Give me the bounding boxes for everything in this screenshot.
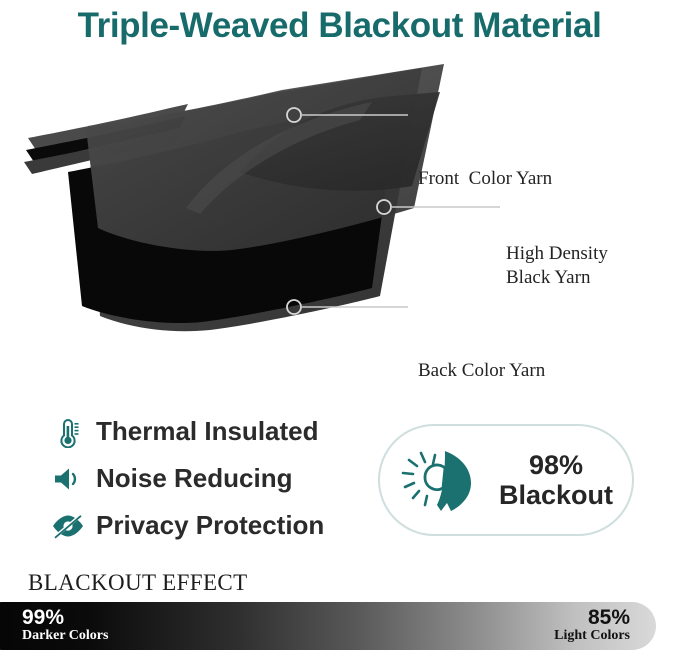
blackout-percent: 98%	[488, 450, 624, 480]
feature-label: Privacy Protection	[96, 510, 324, 541]
darker-colors-percent: 99%	[22, 607, 108, 629]
blackout-bar-right-cell: 85% Light Colors	[554, 607, 630, 644]
blackout-badge-text: 98% Blackout	[488, 450, 632, 510]
blackout-label: Blackout	[488, 480, 624, 510]
speaker-sound-icon	[48, 460, 88, 498]
thermometer-icon	[48, 413, 88, 451]
eye-slash-icon	[48, 507, 88, 545]
blackout-bar-left-cell: 99% Darker Colors	[22, 607, 108, 644]
callout-label-front: Front Color Yarn	[418, 167, 552, 191]
fabric-layers-diagram: Front Color Yarn High Density Black Yarn…	[0, 62, 679, 362]
page-title: Triple-Weaved Blackout Material	[0, 0, 679, 52]
blackout-badge: 98% Blackout	[378, 424, 634, 536]
feature-thermal-insulated: Thermal Insulated	[48, 408, 368, 455]
feature-noise-reducing: Noise Reducing	[48, 455, 368, 502]
feature-list: Thermal Insulated Noise Reducing Privacy…	[48, 408, 368, 549]
blackout-effect-title: BLACKOUT EFFECT	[28, 570, 248, 596]
darker-colors-label: Darker Colors	[22, 629, 108, 644]
light-colors-percent: 85%	[554, 607, 630, 629]
sun-behind-curtain-icon	[396, 441, 488, 519]
blackout-effect-gradient-bar: 99% Darker Colors 85% Light Colors	[0, 602, 656, 650]
feature-label: Noise Reducing	[96, 463, 292, 494]
callout-label-middle: High Density Black Yarn	[506, 242, 608, 290]
light-colors-label: Light Colors	[554, 629, 630, 644]
feature-privacy-protection: Privacy Protection	[48, 502, 368, 549]
callout-label-back: Back Color Yarn	[418, 359, 545, 383]
feature-label: Thermal Insulated	[96, 416, 319, 447]
